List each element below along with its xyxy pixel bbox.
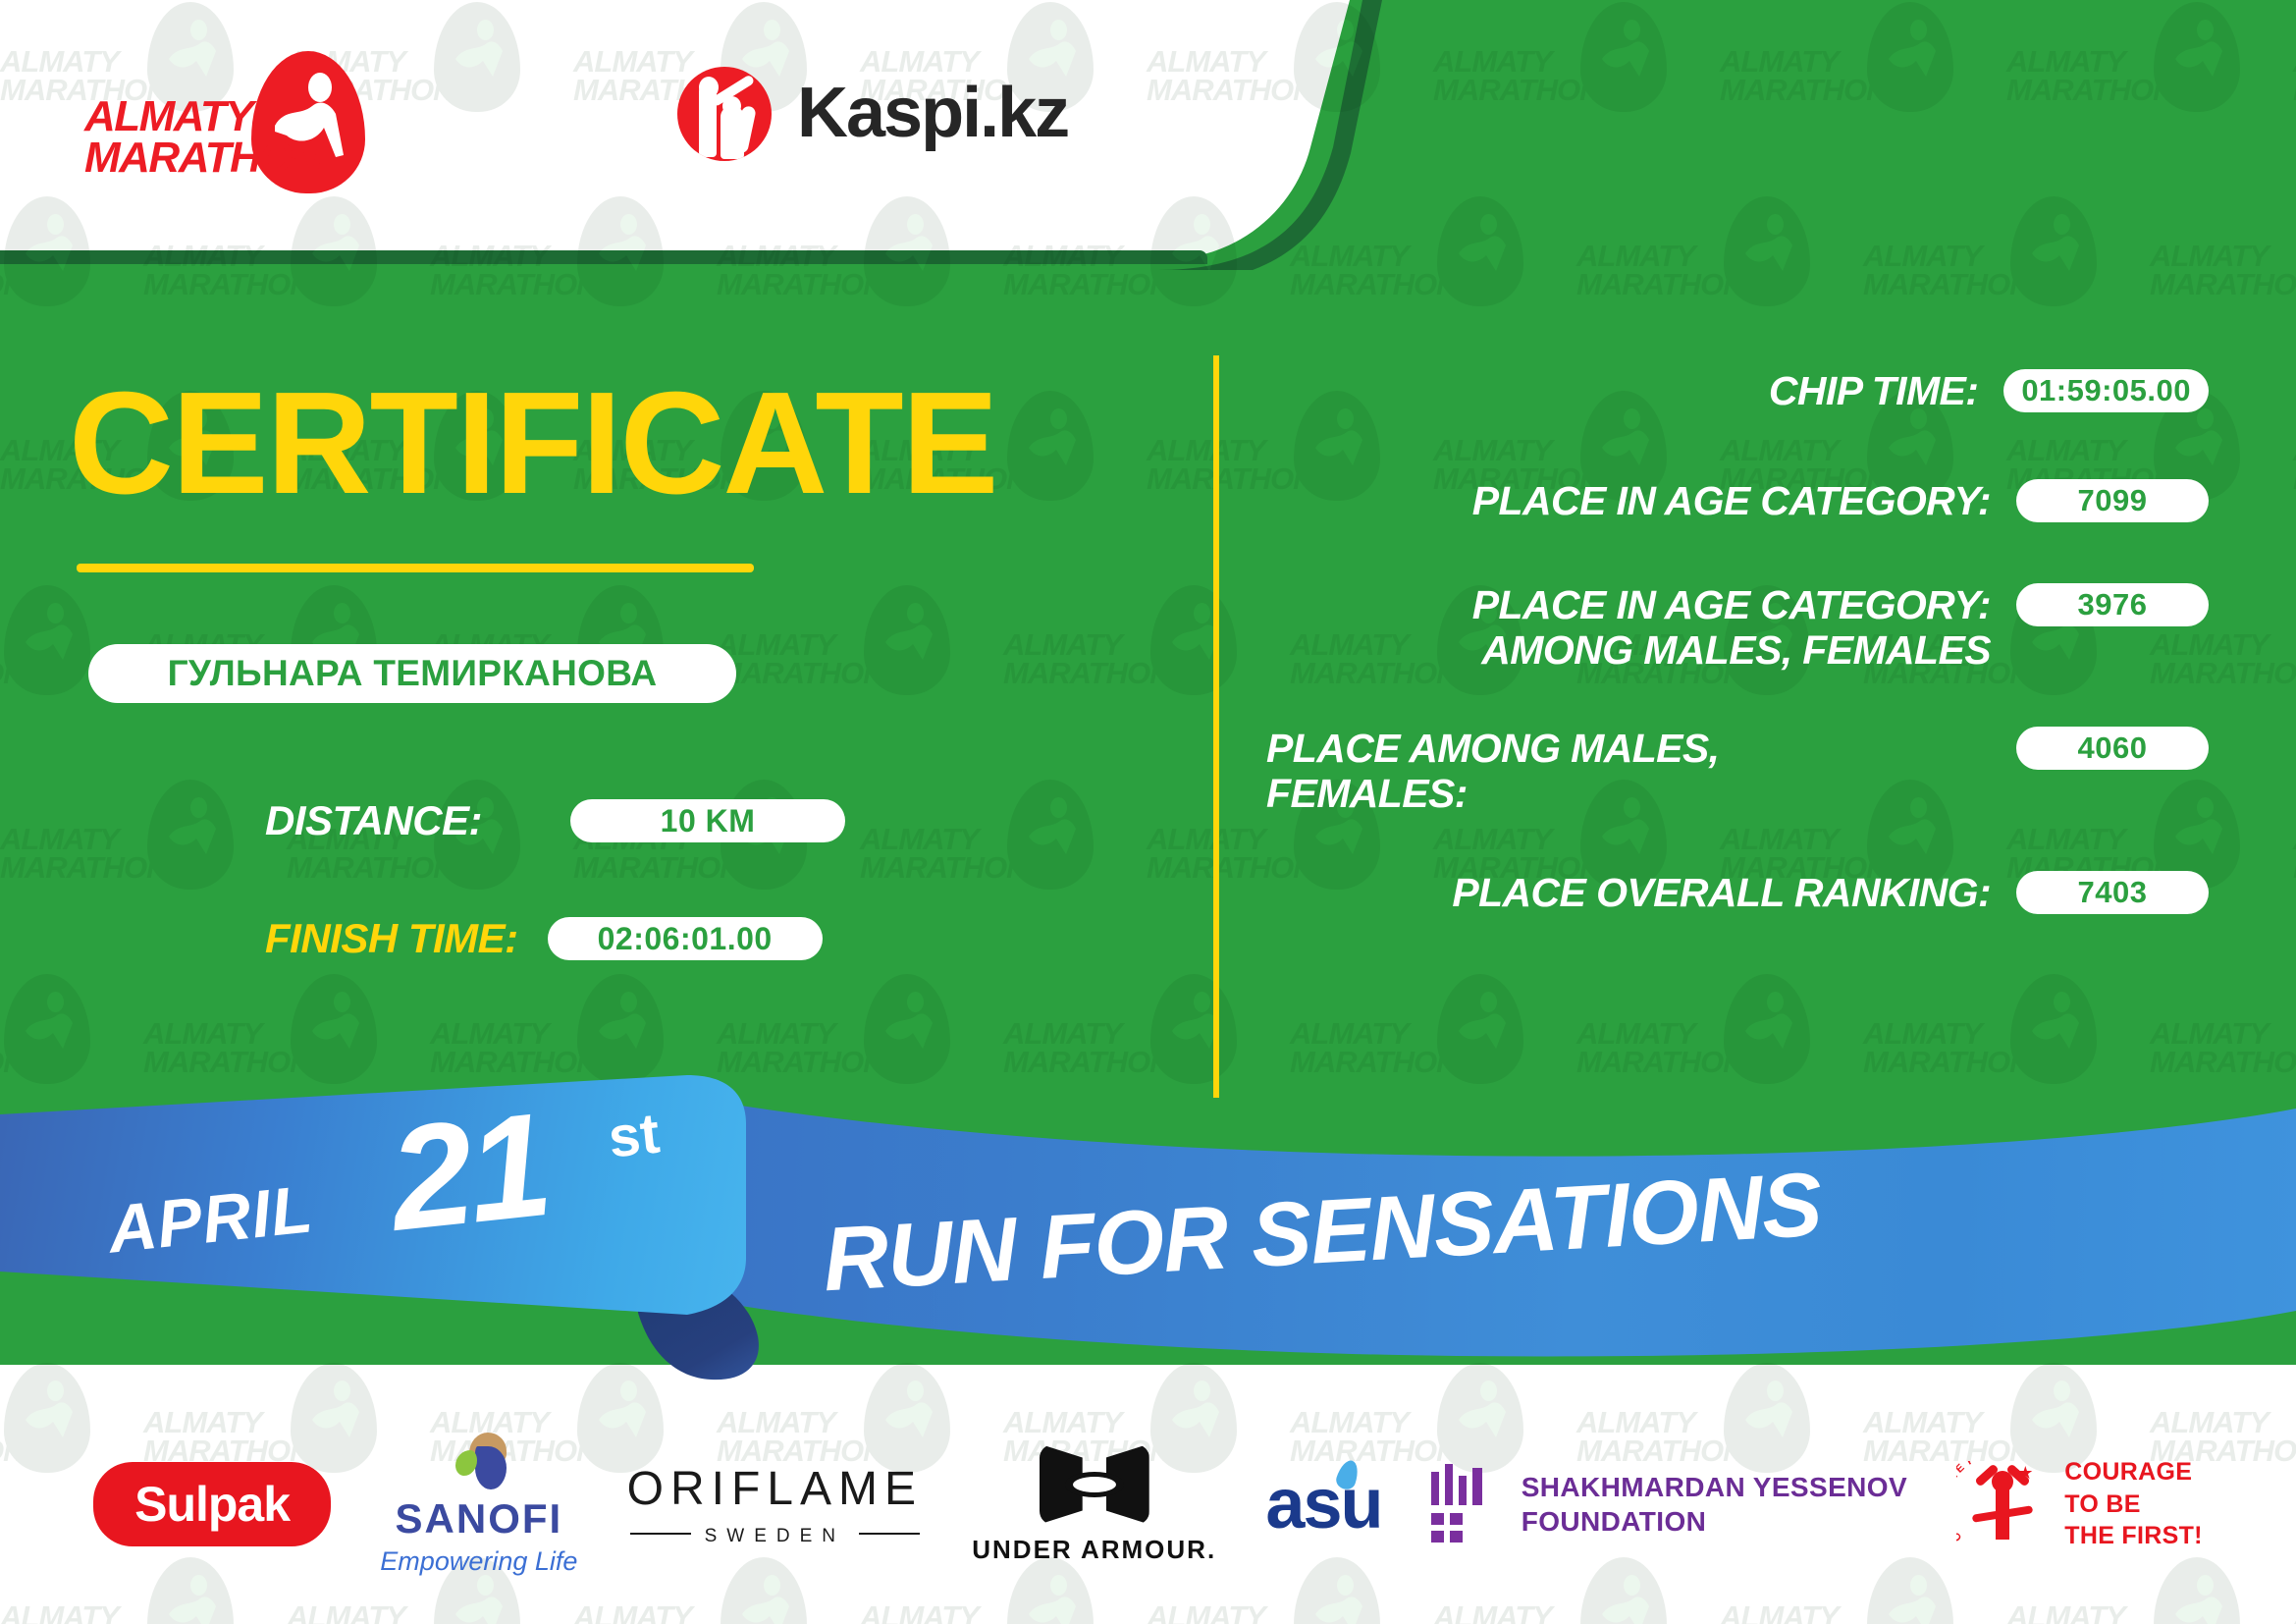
distance-label: DISTANCE: <box>265 797 482 844</box>
sponsor-logo-under-armour: UNDER ARMOUR. <box>972 1444 1216 1565</box>
label-line-1: PLACE AMONG MALES, <box>1266 727 1991 772</box>
yessenov-wordmark: SHAKHMARDAN YESSENOV FOUNDATION <box>1522 1470 1907 1539</box>
oriflame-tagline: SWEDEN <box>705 1526 845 1547</box>
distance-value: 10 KM <box>570 799 845 842</box>
kaspi-people-icon <box>677 67 772 161</box>
place-age-category-label: PLACE IN AGE CATEGORY: <box>1472 479 1991 524</box>
sanofi-tagline: Empowering Life <box>380 1546 577 1577</box>
sanofi-leaf-icon <box>448 1433 510 1489</box>
result-row-place-age-category-among: PLACE IN AGE CATEGORY: AMONG MALES, FEMA… <box>1266 583 2209 674</box>
sponsor-logo-sanofi: SANOFI Empowering Life <box>380 1433 577 1577</box>
kaspi-wordmark: Kaspi.kz <box>797 73 1068 153</box>
place-age-category-among-label: PLACE IN AGE CATEGORY: AMONG MALES, FEMA… <box>1472 583 1991 674</box>
place-age-category-among-value: 3976 <box>2016 583 2209 626</box>
under-armour-icon <box>1040 1444 1149 1525</box>
under-armour-wordmark: UNDER ARMOUR. <box>972 1535 1216 1565</box>
oriflame-wordmark: ORIFLAME <box>627 1462 923 1516</box>
finish-time-row: FINISH TIME: 02:06:01.00 <box>265 915 823 962</box>
green-dark-top-edge <box>0 250 1207 264</box>
place-age-category-value: 7099 <box>2016 479 2209 522</box>
result-row-place-among-males-females: PLACE AMONG MALES, FEMALES: 4060 <box>1266 727 2209 817</box>
asu-text: asu <box>1265 1465 1381 1543</box>
asu-wordmark: asu <box>1265 1464 1381 1544</box>
courage-figure-icon: CORPORATE FUND ★ <box>1956 1455 2051 1553</box>
almaty-marathon-logo: ALMATY MARATHON <box>84 49 379 167</box>
distance-row: DISTANCE: 10 KM <box>265 797 845 844</box>
courage-line-1: COURAGE <box>2064 1456 2203 1489</box>
label-line-2: FEMALES: <box>1266 772 1991 817</box>
oriflame-rule: SWEDEN <box>630 1520 920 1547</box>
sponsor-logos-bar: Sulpak SANOFI Empowering Life ORIFLAME S… <box>0 1384 2296 1624</box>
place-overall-ranking-value: 7403 <box>2016 871 2209 914</box>
label-line-1: PLACE IN AGE CATEGORY: <box>1472 583 1991 628</box>
results-list: CHIP TIME: 01:59:05.00 PLACE IN AGE CATE… <box>1266 369 2209 916</box>
sponsor-logo-oriflame: ORIFLAME SWEDEN <box>627 1462 923 1547</box>
almaty-marathon-wordmark: ALMATY MARATHON <box>84 96 261 179</box>
place-overall-ranking-label: PLACE OVERALL RANKING: <box>1452 871 1991 916</box>
ribbon-ordinal: st <box>606 1100 663 1170</box>
place-among-males-females-value: 4060 <box>2016 727 2209 770</box>
column-divider <box>1213 355 1219 1098</box>
participant-name-value: ГУЛЬНАРА ТЕМИРКАНОВА <box>168 653 658 694</box>
title-underline-rule <box>77 564 754 572</box>
event-date-ribbon: APRIL 21 st RUN FOR SENSATIONS <box>0 1065 2296 1380</box>
yessenov-line-1: SHAKHMARDAN YESSENOV <box>1522 1470 1907 1504</box>
yessenov-bars-icon <box>1431 1464 1500 1544</box>
chip-time-label: CHIP TIME: <box>1769 369 1978 414</box>
result-row-place-age-category: PLACE IN AGE CATEGORY: 7099 <box>1266 479 2209 524</box>
courage-line-2: TO BE <box>2064 1489 2203 1521</box>
kaspi-logo: Kaspi.kz <box>677 57 1070 165</box>
participant-name-field: ГУЛЬНАРА ТЕМИРКАНОВА <box>88 644 736 703</box>
finish-time-value: 02:06:01.00 <box>548 917 823 960</box>
sponsor-logo-yessenov-foundation: SHAKHMARDAN YESSENOV FOUNDATION <box>1431 1464 1907 1544</box>
sanofi-wordmark: SANOFI <box>396 1495 563 1543</box>
result-row-place-overall-ranking: PLACE OVERALL RANKING: 7403 <box>1266 871 2209 916</box>
watermark-runner-icon <box>434 2 520 112</box>
sponsor-logo-sulpak: Sulpak <box>93 1462 331 1546</box>
courage-line-3: THE FIRST! <box>2064 1520 2203 1552</box>
page-title: CERTIFICATE <box>69 371 996 516</box>
sponsor-logo-asu: asu <box>1265 1464 1381 1544</box>
certificate-canvas: ALMATYMARATHONALMATYMARATHONALMATYMARATH… <box>0 0 2296 1624</box>
yessenov-line-2: FOUNDATION <box>1522 1504 1907 1539</box>
courage-wordmark: COURAGE TO BE THE FIRST! <box>2064 1456 2203 1552</box>
result-row-chip-time: CHIP TIME: 01:59:05.00 <box>1266 369 2209 414</box>
sponsor-logo-corporate-fund: CORPORATE FUND ★ COURAGE TO BE THE FIRST… <box>1956 1455 2203 1553</box>
finish-time-label: FINISH TIME: <box>265 915 518 962</box>
place-among-males-females-label: PLACE AMONG MALES, FEMALES: <box>1266 727 1991 817</box>
sulpak-wordmark: Sulpak <box>134 1476 290 1533</box>
chip-time-value: 01:59:05.00 <box>2003 369 2209 412</box>
label-line-2: AMONG MALES, FEMALES <box>1472 628 1991 674</box>
ribbon-day: 21 <box>382 1079 555 1265</box>
watermark-text: ALMATYMARATHON <box>1147 47 1304 105</box>
